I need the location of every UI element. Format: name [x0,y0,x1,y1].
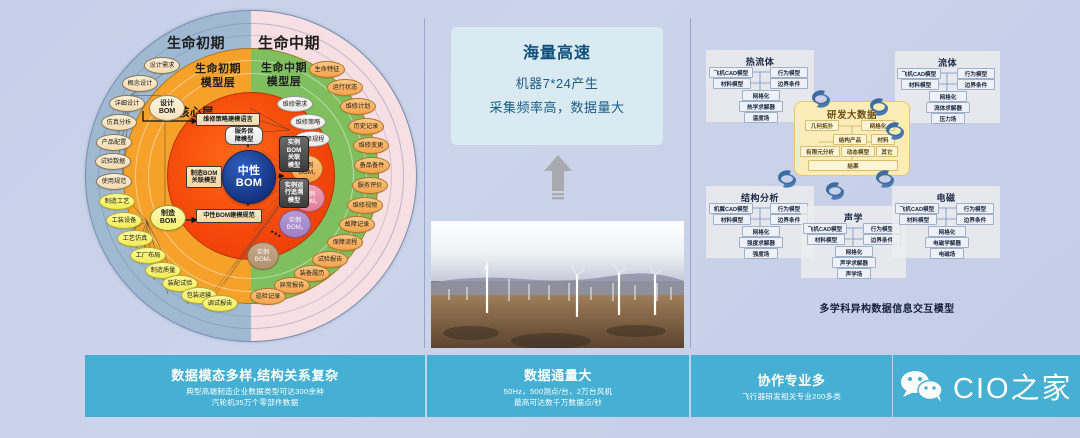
segment-sub-1: 典型高端制造企业数据类型可达300余种 [186,387,324,397]
outer-node[interactable]: 工艺仿真 [117,230,153,247]
half-title-mid: 生命中期 [258,32,320,53]
discipline-node[interactable]: 行为模型 [956,203,994,214]
segment-sub-2: 最高可达数千万数据点/秒 [514,398,602,408]
rd-node[interactable]: 几何拓扑 [805,120,839,131]
neutral-bom-line1: 中性 [238,165,261,177]
exchange-arrow-icon [866,96,892,118]
outer-node[interactable]: 仿真分析 [101,114,137,131]
exchange-arrow-icon [822,180,848,202]
exchange-arrow-icon [808,88,834,110]
discipline-box-electromagnetics[interactable]: 电磁 飞机CAD模型 行为模型 材料模型 边界条件 网格化 电磁学解器 电磁场 [892,186,1000,258]
segment-sub-2: 汽轮机35万个零部件数据 [212,398,299,408]
half-title-early: 生命初期 [167,33,225,53]
neutral-bom-modeling-spec-box[interactable]: 中性BOM建模规范 [196,209,262,223]
mid-model-node[interactable]: 维修需求 [277,96,313,112]
outer-node[interactable]: 试验数据 [95,153,131,170]
discipline-node[interactable]: 声学场 [837,268,871,279]
discipline-node[interactable]: 网格化 [742,90,780,101]
discipline-node[interactable]: 材料模型 [713,78,751,89]
discipline-node[interactable]: 电磁学解器 [925,237,969,248]
brand-text: CIO之家 [953,365,1073,407]
bottom-segment-collaboration[interactable]: 协作专业多 飞行器研发相关专业200多类 [691,355,892,417]
outer-node[interactable]: 保障流程 [327,234,363,251]
outer-node[interactable]: 生命特征 [309,61,345,78]
discipline-node[interactable]: 流体求解器 [926,102,970,113]
outer-node[interactable]: 产品配置 [96,134,132,151]
discipline-node[interactable]: 飞机CAD模型 [803,223,847,234]
discipline-node[interactable]: 材料模型 [899,214,937,225]
discipline-box-fluid[interactable]: 流体 飞机CAD模型 行为模型 材料模型 边界条件 网格化 流体求解器 压力场 [895,51,1000,123]
instance-bom-node[interactable]: 实例BOMₙ [247,242,279,270]
outer-node[interactable]: 备品备件 [354,157,390,174]
discipline-node[interactable]: 边界条件 [770,78,808,89]
discipline-node[interactable]: 材料模型 [713,214,751,225]
divider-right [690,18,691,348]
neutral-bom-center[interactable]: 中性 BOM [222,150,276,204]
service-guarantee-model-box[interactable]: 服务保障模型 [225,126,263,145]
rd-node[interactable]: 有限元分析 [800,146,840,157]
segment-title: 数据模态多样,结构关系复杂 [171,365,338,384]
segment-title: 数据通量大 [524,365,592,384]
discipline-node[interactable]: 材料模型 [901,79,939,90]
wind-turbines [431,221,684,348]
callout-line-2: 采集频率高，数据量大 [489,97,624,116]
discipline-node[interactable]: 强度求解器 [739,237,783,248]
outer-node[interactable]: 维修视频 [347,197,383,214]
high-volume-speed-panel: 海量高速 机器7*24产生 采集频率高，数据量大 [424,0,690,348]
bottom-segment-data-variety[interactable]: 数据模态多样,结构关系复杂 典型高端制造企业数据类型可达300余种 汽轮机35万… [85,355,425,417]
right-panel-caption: 多学科异构数据信息交互模型 [694,300,1080,315]
maint-strategy-language-box[interactable]: 维修策略建模语言 [196,113,260,126]
outer-node[interactable]: 制造工艺 [99,193,135,210]
outer-node[interactable]: 调试报告 [202,295,238,312]
wind-farm-photo [431,221,684,348]
instance-bom-node[interactable]: 实例BOM₃ [279,210,311,238]
discipline-node[interactable]: 行为模型 [770,67,808,78]
outer-node[interactable]: 使用规范 [96,173,132,190]
early-model-layer-title: 生命初期模型层 [188,62,248,90]
outer-node[interactable]: 巡检记录 [250,288,286,305]
outer-node[interactable]: 故障记录 [339,216,375,233]
discipline-node[interactable]: 电磁场 [930,248,964,259]
discipline-node[interactable]: 网格化 [742,226,780,237]
discipline-node[interactable]: 网格化 [835,246,873,257]
segment-sub-1: 飞行器研发相关专业200多类 [742,392,841,402]
discipline-node[interactable]: 飞机CAD模型 [709,67,753,78]
outer-node[interactable]: 维修变更 [353,137,389,154]
discipline-node[interactable]: 压力场 [931,113,965,124]
wechat-icon [897,369,949,403]
bottom-segment-data-throughput[interactable]: 数据通量大 50Hz，500测点/台，2万台风机 最高可达数千万数据点/秒 [427,355,689,417]
up-arrow-icon [541,155,575,201]
callout-line-1: 机器7*24产生 [516,73,599,92]
manufacture-bom-relation-model-box[interactable]: 制造BOM关联模型 [186,166,222,188]
discipline-box-acoustics[interactable]: 声学 飞机CAD模型 行为模型 材料模型 边界条件 网格化 声学求解器 声学场 [801,206,906,278]
outer-node[interactable]: 详细设计 [109,95,145,112]
outer-node[interactable]: 概念设计 [122,75,158,92]
mid-model-node[interactable]: 维修策略 [290,114,326,130]
outer-node[interactable]: 维修计划 [340,98,376,115]
rd-node[interactable]: 动态模型 [841,146,875,157]
exchange-arrow-icon [774,168,800,190]
callout-card: 海量高速 机器7*24产生 采集频率高，数据量大 [451,27,663,145]
rd-node[interactable]: 结构产品 [833,134,867,145]
discipline-node[interactable]: 材料模型 [807,234,845,245]
discipline-node[interactable]: 飞机CAD模型 [897,68,941,79]
neutral-bom-line2: BOM [236,177,263,189]
outer-node[interactable]: 设计需求 [144,57,180,74]
manufacture-bom-node[interactable]: 制造BOM [150,205,186,231]
multidiscipline-data-model-panel: 热流体 飞机CAD模型 行为模型 材料模型 边界条件 网格化 热学求解器 温度场… [694,0,1080,348]
design-bom-node[interactable]: 设计BOM [149,95,185,121]
instance-ops-trace-model-box[interactable]: 实例运行追溯模型 [279,178,309,208]
outer-node[interactable]: 历史记录 [348,118,384,135]
discipline-node[interactable]: 机翼CAD模型 [709,203,753,214]
segment-title: 协作专业多 [757,370,825,389]
discipline-node[interactable]: 强度场 [744,248,778,259]
exchange-arrow-icon [872,168,898,190]
segment-sub-1: 50Hz，500测点/台，2万台风机 [504,387,613,397]
discipline-node[interactable]: 温度场 [744,112,778,123]
exchange-arrow-icon [882,120,908,142]
instance-bom-relation-model-box[interactable]: 实例BOM关联模型 [279,136,309,172]
slide-canvas: 生命初期 生命中期 生命初期模型层 生命中期模型层 核心层 [0,0,1080,438]
bottom-summary-bar: 数据模态多样,结构关系复杂 典型高端制造企业数据类型可达300余种 汽轮机35万… [0,355,1080,417]
outer-node[interactable]: 运行状态 [327,79,363,96]
brand-watermark: CIO之家 [893,355,1080,417]
discipline-node[interactable]: 声学求解器 [832,257,876,268]
callout-title: 海量高速 [523,39,591,63]
discipline-node[interactable]: 网格化 [929,91,967,102]
discipline-node[interactable]: 边界条件 [957,79,995,90]
discipline-node[interactable]: 边界条件 [956,214,994,225]
discipline-node[interactable]: 飞机CAD模型 [895,203,939,214]
discipline-box-structural-analysis[interactable]: 结构分析 机翼CAD模型 行为模型 材料模型 边界条件 网格化 强度求解器 强度… [706,186,814,258]
outer-node[interactable]: 服务评价 [352,177,388,194]
discipline-node[interactable]: 热学求解器 [739,101,783,112]
mid-model-layer-title: 生命中期模型层 [254,61,314,89]
discipline-node[interactable]: 网格化 [928,226,966,237]
outer-node[interactable]: 工装设备 [106,212,142,229]
lifecycle-bom-circle-diagram: 生命初期 生命中期 生命初期模型层 生命中期模型层 核心层 [0,0,420,348]
discipline-node[interactable]: 行为模型 [957,68,995,79]
rd-node[interactable]: 其它 [876,146,898,157]
